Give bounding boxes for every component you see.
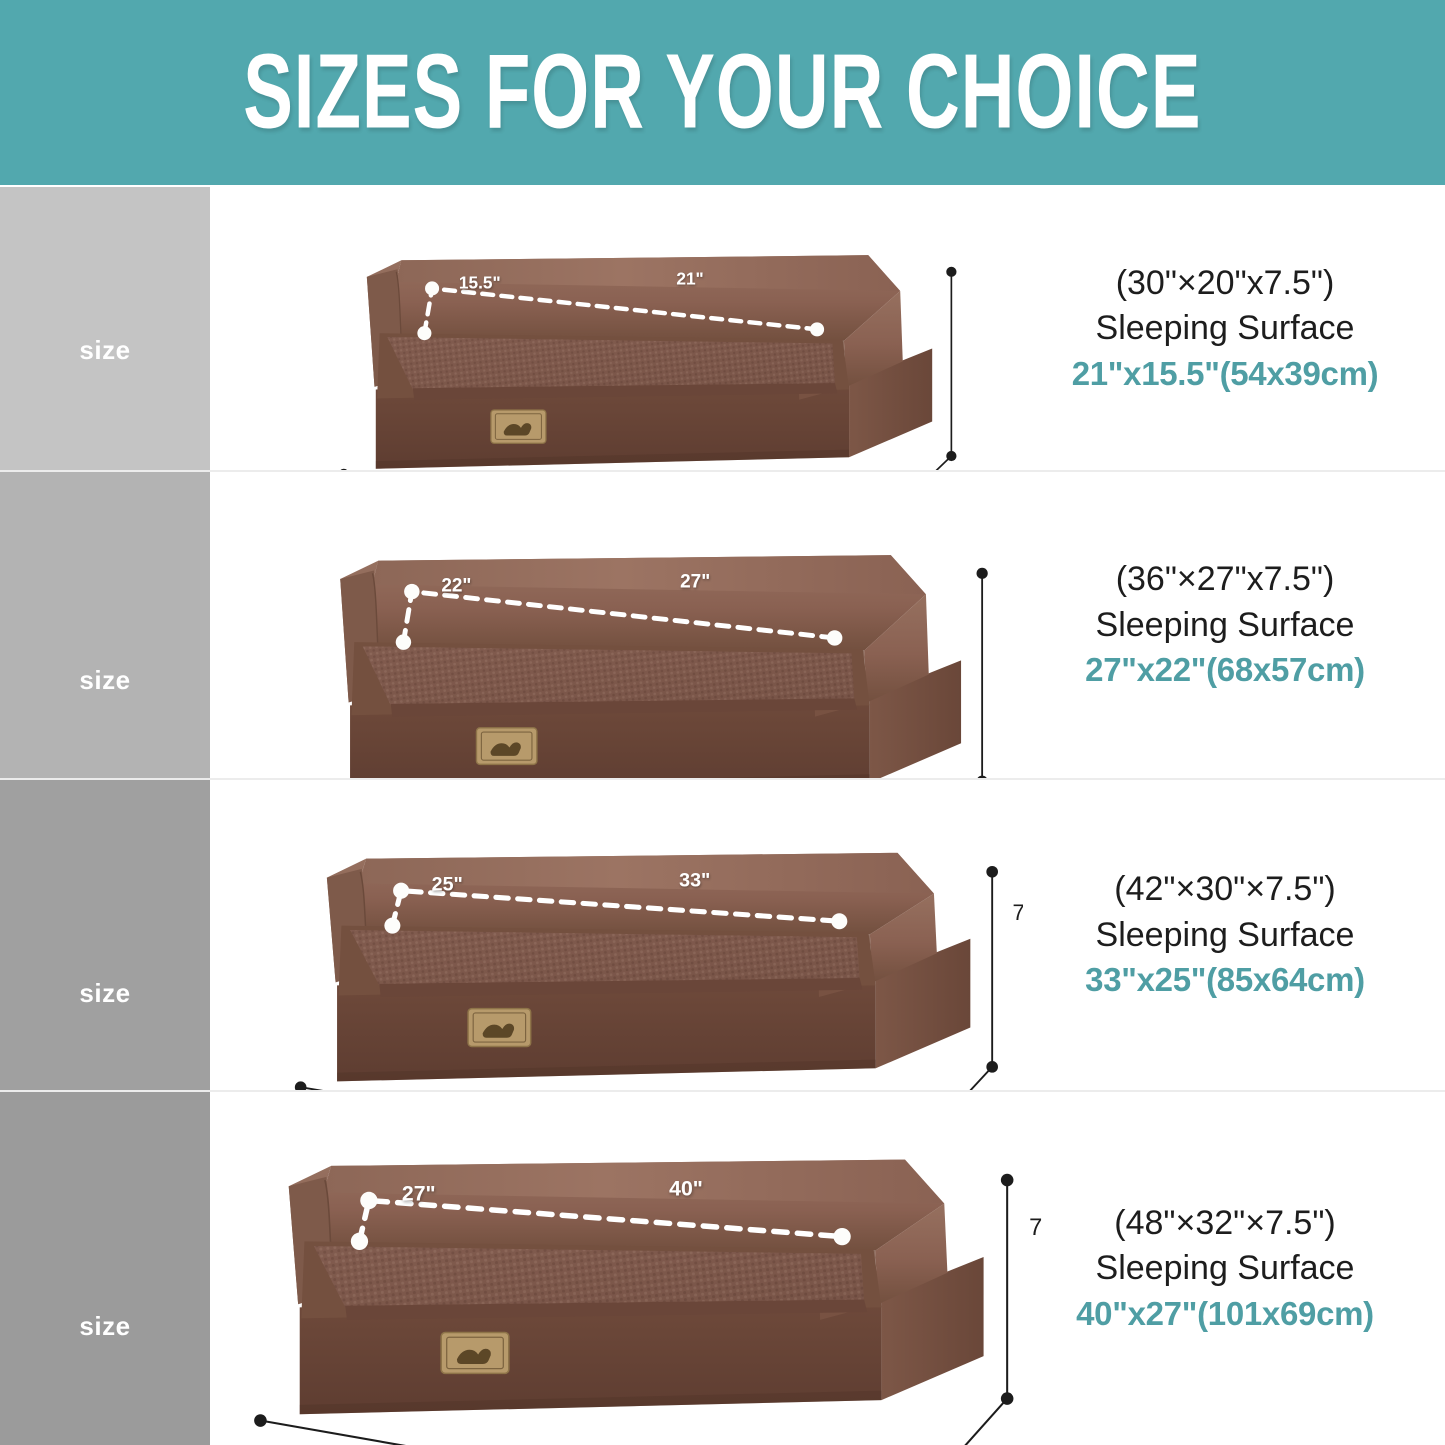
sleeping-surface-dimensions: 40"x27"(101x69cm) xyxy=(1076,1292,1374,1336)
sleeping-surface-caption: Sleeping Surface xyxy=(1096,306,1355,352)
spec-block-2: (36"×27"x7.5") Sleeping Surface 27"x22"(… xyxy=(1005,472,1445,778)
inner-right-dimension-label: 40" xyxy=(669,1178,703,1201)
bed-illustration-4: 27" 40" 48" 32" 7.5" xyxy=(202,1136,1042,1445)
inner-dim-dot xyxy=(827,630,842,645)
sleeping-surface-caption: Sleeping Surface xyxy=(1096,913,1355,959)
size-chart-page: SIZES FOR YOUR CHOICE size xyxy=(0,0,1445,1445)
inner-left-dimension-label: 15.5" xyxy=(459,272,501,292)
inner-left-dimension-label: 22" xyxy=(441,576,471,597)
page-banner: SIZES FOR YOUR CHOICE xyxy=(0,0,1445,185)
size-label: size xyxy=(79,1311,130,1342)
size-row: size xyxy=(0,472,1445,778)
inner-dim-dot xyxy=(393,883,409,899)
size-row: size xyxy=(0,187,1445,470)
brand-tag xyxy=(468,1009,531,1047)
page-title: SIZES FOR YOUR CHOICE xyxy=(243,32,1201,154)
inner-right-dimension-label: 27" xyxy=(680,571,710,592)
inner-dim-dot xyxy=(396,634,411,649)
bed-cushion-shade xyxy=(363,646,855,705)
inner-left-dimension-label: 27" xyxy=(402,1182,436,1205)
size-label: size xyxy=(79,978,130,1009)
overall-dimensions-text: (30"×20"x7.5") xyxy=(1116,261,1335,307)
overall-dimensions-text: (36"×27"x7.5") xyxy=(1116,557,1335,603)
sleeping-surface-dimensions: 21"x15.5"(54x39cm) xyxy=(1072,352,1379,396)
size-label: size xyxy=(79,665,130,696)
sleeping-surface-caption: Sleeping Surface xyxy=(1096,1246,1355,1292)
spec-block-1: (30"×20"x7.5") Sleeping Surface 21"x15.5… xyxy=(1005,187,1445,470)
brand-tag xyxy=(441,1333,509,1374)
bed-illustration-svg: 27" 40" 48" 32" 7.5" xyxy=(202,1136,1042,1445)
size-swatch-cell-3: size xyxy=(0,780,210,1090)
spec-block-3: (42"×30"×7.5") Sleeping Surface 33"x25"(… xyxy=(1005,780,1445,1090)
brand-tag xyxy=(491,410,546,443)
inner-dim-dot xyxy=(360,1192,377,1209)
size-swatch-cell-4: size xyxy=(0,1092,210,1445)
inner-dim-dot xyxy=(384,918,400,934)
size-swatch-cell-2: size xyxy=(0,472,210,778)
inner-dim-dot xyxy=(831,913,847,929)
sleeping-surface-dimensions: 33"x25"(85x64cm) xyxy=(1085,958,1365,1002)
bed-cushion-shade xyxy=(387,337,835,389)
inner-dim-dot xyxy=(833,1228,850,1245)
inner-dim-dot xyxy=(351,1233,368,1250)
inner-dim-dot xyxy=(810,322,824,336)
inner-right-dimension-label: 33" xyxy=(679,869,710,891)
size-swatch-cell-1: size xyxy=(0,187,210,470)
size-label: size xyxy=(79,335,130,366)
size-row: size xyxy=(0,780,1445,1090)
brand-tag xyxy=(476,728,536,765)
overall-dimensions-text: (42"×30"×7.5") xyxy=(1114,867,1335,913)
inner-right-dimension-label: 21" xyxy=(676,269,703,289)
overall-dimensions-text: (48"×32"×7.5") xyxy=(1114,1201,1335,1247)
spec-block-4: (48"×32"×7.5") Sleeping Surface 40"x27"(… xyxy=(1005,1092,1445,1445)
inner-left-dimension-label: 25" xyxy=(432,874,463,896)
inner-dim-dot xyxy=(404,584,419,599)
bed-cushion-shade xyxy=(314,1246,864,1307)
sleeping-surface-caption: Sleeping Surface xyxy=(1096,603,1355,649)
sleeping-surface-dimensions: 27"x22"(68x57cm) xyxy=(1085,648,1365,692)
inner-dim-dot xyxy=(417,326,431,340)
inner-dim-dot xyxy=(425,281,439,295)
size-row: size xyxy=(0,1092,1445,1445)
bed-cushion-shade xyxy=(350,930,860,985)
